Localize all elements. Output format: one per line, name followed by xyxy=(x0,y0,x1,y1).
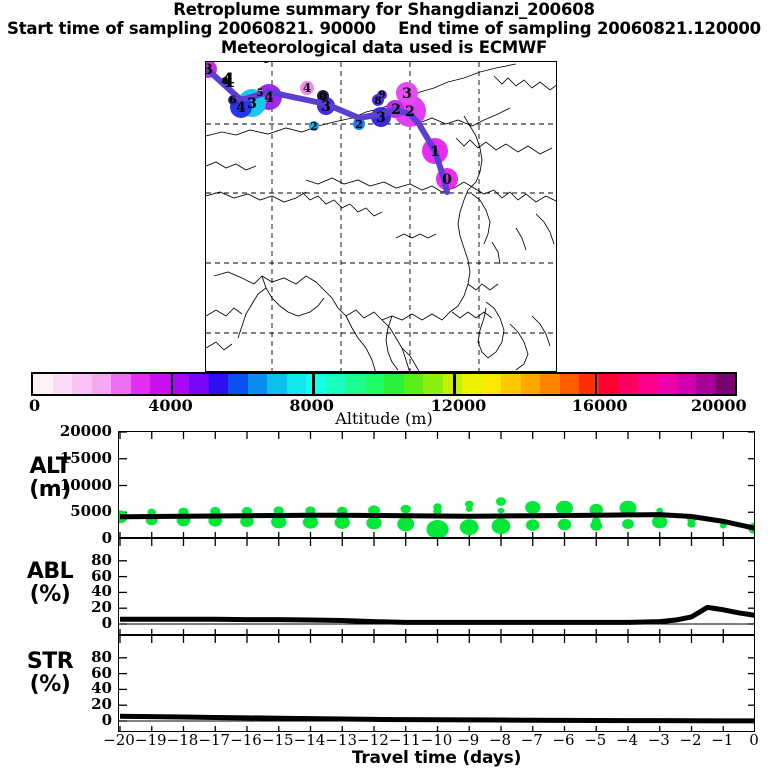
colorbar-band-9 xyxy=(209,374,229,394)
alt-scatter-point xyxy=(492,518,511,534)
y-tick-label: 0 xyxy=(34,529,112,547)
svg-text:3: 3 xyxy=(247,96,257,112)
y-tick-label: 15000 xyxy=(34,449,112,467)
svg-text:3: 3 xyxy=(376,110,386,126)
colorbar-divider xyxy=(312,372,314,396)
colorbar-axis-title: Altitude (m) xyxy=(0,409,768,428)
svg-text:4: 4 xyxy=(303,81,311,95)
colorbar-band-5 xyxy=(131,374,151,394)
y-tick-label: 60 xyxy=(34,567,112,585)
alt-scatter-point xyxy=(466,506,473,512)
svg-text:5: 5 xyxy=(257,88,264,99)
svg-text:2: 2 xyxy=(391,102,401,118)
alt-plot-canvas xyxy=(119,432,755,538)
colorbar-band-27 xyxy=(560,374,580,394)
alt-scatter-point xyxy=(460,519,479,535)
colorbar-band-33 xyxy=(677,374,697,394)
colorbar-band-11 xyxy=(248,374,268,394)
colorbar-band-25 xyxy=(521,374,541,394)
met-data-line: Meteorological data used is ECMWF xyxy=(0,38,768,57)
alt-scatter-point xyxy=(687,520,696,527)
svg-text:6: 6 xyxy=(230,95,237,106)
colorbar-band-6 xyxy=(150,374,170,394)
y-tick-label: 80 xyxy=(34,648,112,666)
colorbar-band-18 xyxy=(384,374,404,394)
alt-scatter-point xyxy=(335,516,350,529)
str-plot-panel[interactable] xyxy=(118,635,755,732)
y-tick-label: 20000 xyxy=(34,422,112,440)
colorbar-divider xyxy=(453,372,455,396)
colorbar-band-2 xyxy=(72,374,92,394)
alt-scatter-point xyxy=(498,508,505,514)
alt-scatter-point xyxy=(558,519,572,531)
header-block: Retroplume summary for Shangdianzi_20060… xyxy=(0,0,768,57)
alt-scatter-point xyxy=(525,501,540,514)
abl-plot-canvas xyxy=(119,539,755,635)
alt-scatter-point xyxy=(622,519,634,529)
y-tick-label: 40 xyxy=(34,679,112,697)
y-tick-label: 20 xyxy=(34,695,112,713)
str-plot-canvas xyxy=(119,636,755,732)
alt-scatter-point xyxy=(366,516,381,529)
y-tick-label: 20 xyxy=(34,598,112,616)
alt-scatter-point xyxy=(526,519,540,531)
svg-text:2: 2 xyxy=(405,104,415,120)
svg-text:3: 3 xyxy=(206,62,213,78)
alt-scatter-point xyxy=(426,520,448,538)
colorbar-band-3 xyxy=(92,374,112,394)
colorbar-band-35 xyxy=(716,374,736,394)
alt-scatter-point xyxy=(590,521,602,531)
svg-text:4: 4 xyxy=(264,90,274,106)
y-tick-label: 5000 xyxy=(34,502,112,520)
svg-text:2: 2 xyxy=(355,118,363,131)
colorbar-band-34 xyxy=(696,374,716,394)
svg-text:7: 7 xyxy=(263,62,270,66)
colorbar-band-24 xyxy=(501,374,521,394)
svg-text:2: 2 xyxy=(310,120,318,133)
colorbar-band-12 xyxy=(267,374,287,394)
y-tick-label: 0 xyxy=(34,614,112,632)
colorbar-band-22 xyxy=(462,374,482,394)
colorbar-band-30 xyxy=(618,374,638,394)
page-title: Retroplume summary for Shangdianzi_20060… xyxy=(0,0,768,19)
colorbar-divider xyxy=(171,372,173,396)
svg-text:9: 9 xyxy=(379,90,386,101)
alt-plot-panel[interactable] xyxy=(118,431,755,538)
colorbar-gradient xyxy=(31,372,737,396)
abl-line xyxy=(120,607,755,622)
colorbar-band-15 xyxy=(326,374,346,394)
alt-scatter-point xyxy=(401,505,411,514)
map-canvas: 0 1 2 2 3 3 8 9 3 0 2 2 4 4 3 4 6 5 4 3 … xyxy=(206,62,557,372)
retroplume-map-panel[interactable]: 0 1 2 2 3 3 8 9 3 0 2 2 4 4 3 4 6 5 4 3 … xyxy=(205,61,557,372)
alt-scatter-point xyxy=(397,517,414,531)
colorbar-band-32 xyxy=(657,374,677,394)
colorbar-band-21 xyxy=(443,374,463,394)
colorbar-band-13 xyxy=(287,374,307,394)
colorbar-band-20 xyxy=(423,374,443,394)
y-tick-label: 0 xyxy=(34,711,112,729)
svg-text:4: 4 xyxy=(236,100,246,116)
y-tick-label: 10000 xyxy=(34,476,112,494)
colorbar-band-16 xyxy=(345,374,365,394)
colorbar-band-31 xyxy=(638,374,658,394)
altitude-colorbar xyxy=(31,372,737,396)
svg-text:0: 0 xyxy=(319,90,327,103)
sampling-time-line: Start time of sampling 20060821. 90000 E… xyxy=(0,19,768,38)
colorbar-band-29 xyxy=(599,374,619,394)
y-tick-label: 40 xyxy=(34,582,112,600)
y-tick-label: 60 xyxy=(34,664,112,682)
colorbar-divider xyxy=(595,372,597,396)
svg-text:1: 1 xyxy=(430,144,440,160)
colorbar-band-10 xyxy=(228,374,248,394)
colorbar-band-14 xyxy=(306,374,326,394)
x-axis-title: Travel time (days) xyxy=(118,748,755,768)
colorbar-band-1 xyxy=(53,374,73,394)
x-tick-label: 0 xyxy=(734,731,768,749)
colorbar-band-8 xyxy=(189,374,209,394)
colorbar-band-26 xyxy=(540,374,560,394)
colorbar-band-23 xyxy=(482,374,502,394)
svg-text:4: 4 xyxy=(221,68,235,92)
abl-plot-panel[interactable] xyxy=(118,538,755,635)
colorbar-band-4 xyxy=(111,374,131,394)
colorbar-band-0 xyxy=(33,374,53,394)
str-line xyxy=(120,716,755,721)
alt-scatter-point xyxy=(496,497,506,506)
y-tick-label: 80 xyxy=(34,551,112,569)
svg-text:3: 3 xyxy=(402,86,412,102)
svg-text:0: 0 xyxy=(442,172,452,188)
colorbar-band-19 xyxy=(404,374,424,394)
colorbar-band-17 xyxy=(365,374,385,394)
